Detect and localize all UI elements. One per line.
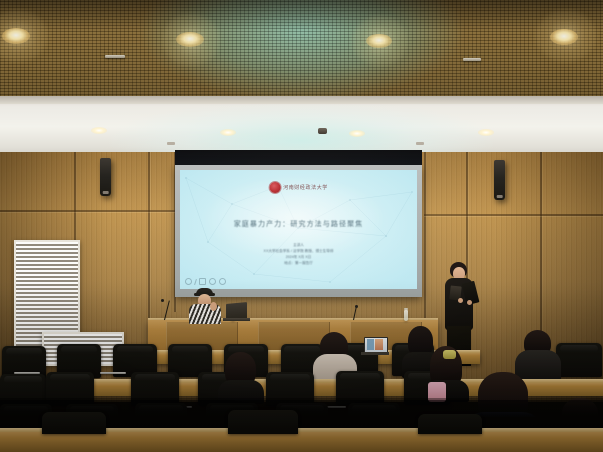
projection-screen: 河南财经政法大学 家庭暴力产力：研究方法与路径聚焦 主讲人 XX大学社会学系 /… (175, 165, 422, 297)
chair-highlight (340, 373, 380, 380)
wall-speaker-left (100, 158, 111, 196)
slide-logo-wordmark: 河南财经政法大学 (283, 184, 328, 191)
chair-highlight (270, 374, 310, 381)
downlight-1 (2, 28, 30, 44)
chair-highlight (61, 346, 98, 353)
chair-highlight (4, 376, 43, 383)
ceiling-sensor-icon (318, 128, 327, 134)
ceiling-soffit (0, 96, 603, 158)
chair-highlight (6, 348, 43, 355)
wall-speaker-right (494, 160, 505, 200)
chair-fg-2[interactable] (228, 410, 298, 434)
chair-highlight (560, 345, 599, 352)
soffit-downlight-3 (349, 130, 365, 137)
more-icon[interactable] (219, 278, 226, 285)
ceiling-vent-slot-left (105, 55, 125, 58)
pen-icon[interactable] (185, 278, 192, 285)
soffit-downlight-1 (91, 127, 107, 134)
seated-moderator (186, 288, 226, 324)
soffit-downlight-2 (220, 129, 236, 136)
speaker-badge-left (102, 191, 109, 194)
moderator-hand (210, 302, 217, 311)
chair-highlight (117, 346, 154, 353)
slide-title: 家庭暴力产力：研究方法与路径聚焦 (180, 219, 417, 229)
ceiling-shading (0, 0, 603, 104)
downlight-3 (366, 34, 392, 48)
chair-highlight (172, 346, 209, 353)
presenter-hand-right (467, 300, 472, 305)
grid-icon[interactable] (199, 278, 206, 285)
projected-slide: 河南财经政法大学 家庭暴力产力：研究方法与路径聚焦 主讲人 XX大学社会学系 /… (180, 170, 417, 289)
audience-laptop-base[interactable] (361, 352, 389, 355)
ceiling (0, 0, 603, 104)
soffit-tab-left (167, 142, 175, 145)
soffit-downlight-4 (478, 129, 494, 136)
downlight-2 (176, 32, 204, 47)
water-bottle-3 (404, 310, 408, 321)
chair-r1-10[interactable] (556, 343, 602, 377)
zoom-icon[interactable] (209, 278, 216, 285)
audience-laptop-content-right (375, 339, 383, 350)
microphone-right-head (355, 305, 358, 308)
ceiling-vent-slot-right (463, 58, 481, 61)
slideshow-toolbar[interactable] (185, 278, 226, 285)
downlight-4 (550, 29, 578, 45)
chair-fg-3[interactable] (418, 414, 482, 434)
water-bottle-3-cap (404, 308, 408, 310)
soffit-tab-right (416, 142, 424, 145)
chair-arm-r2-2 (100, 372, 126, 374)
microphone-left-head (161, 299, 164, 302)
slide-subtitle: 主讲人 XX大学社会学系 / 法学院 教授、博士生导师 2024年 X月 X日 … (180, 242, 417, 266)
lecture-hall-photo: 河南财经政法大学 家庭暴力产力：研究方法与路径聚焦 主讲人 XX大学社会学系 /… (0, 0, 603, 452)
slide-logo: 河南财经政法大学 (269, 182, 328, 193)
slash-icon[interactable] (194, 278, 197, 284)
presenter-laptop-base[interactable] (223, 318, 250, 321)
chair-highlight (50, 374, 90, 381)
chair-highlight (135, 374, 175, 381)
university-seal-icon (269, 182, 280, 193)
slide-subtitle-line-3: 地点：第一报告厅 (180, 260, 417, 266)
soffit-lip (0, 96, 603, 104)
audience-4-hair-clip (443, 350, 456, 359)
speaker-badge-right (496, 195, 503, 198)
chair-fg-1[interactable] (42, 412, 106, 434)
presenter-hand-left (458, 298, 463, 303)
audience-member-1 (218, 352, 264, 404)
audience-laptop-content-left (367, 339, 374, 350)
